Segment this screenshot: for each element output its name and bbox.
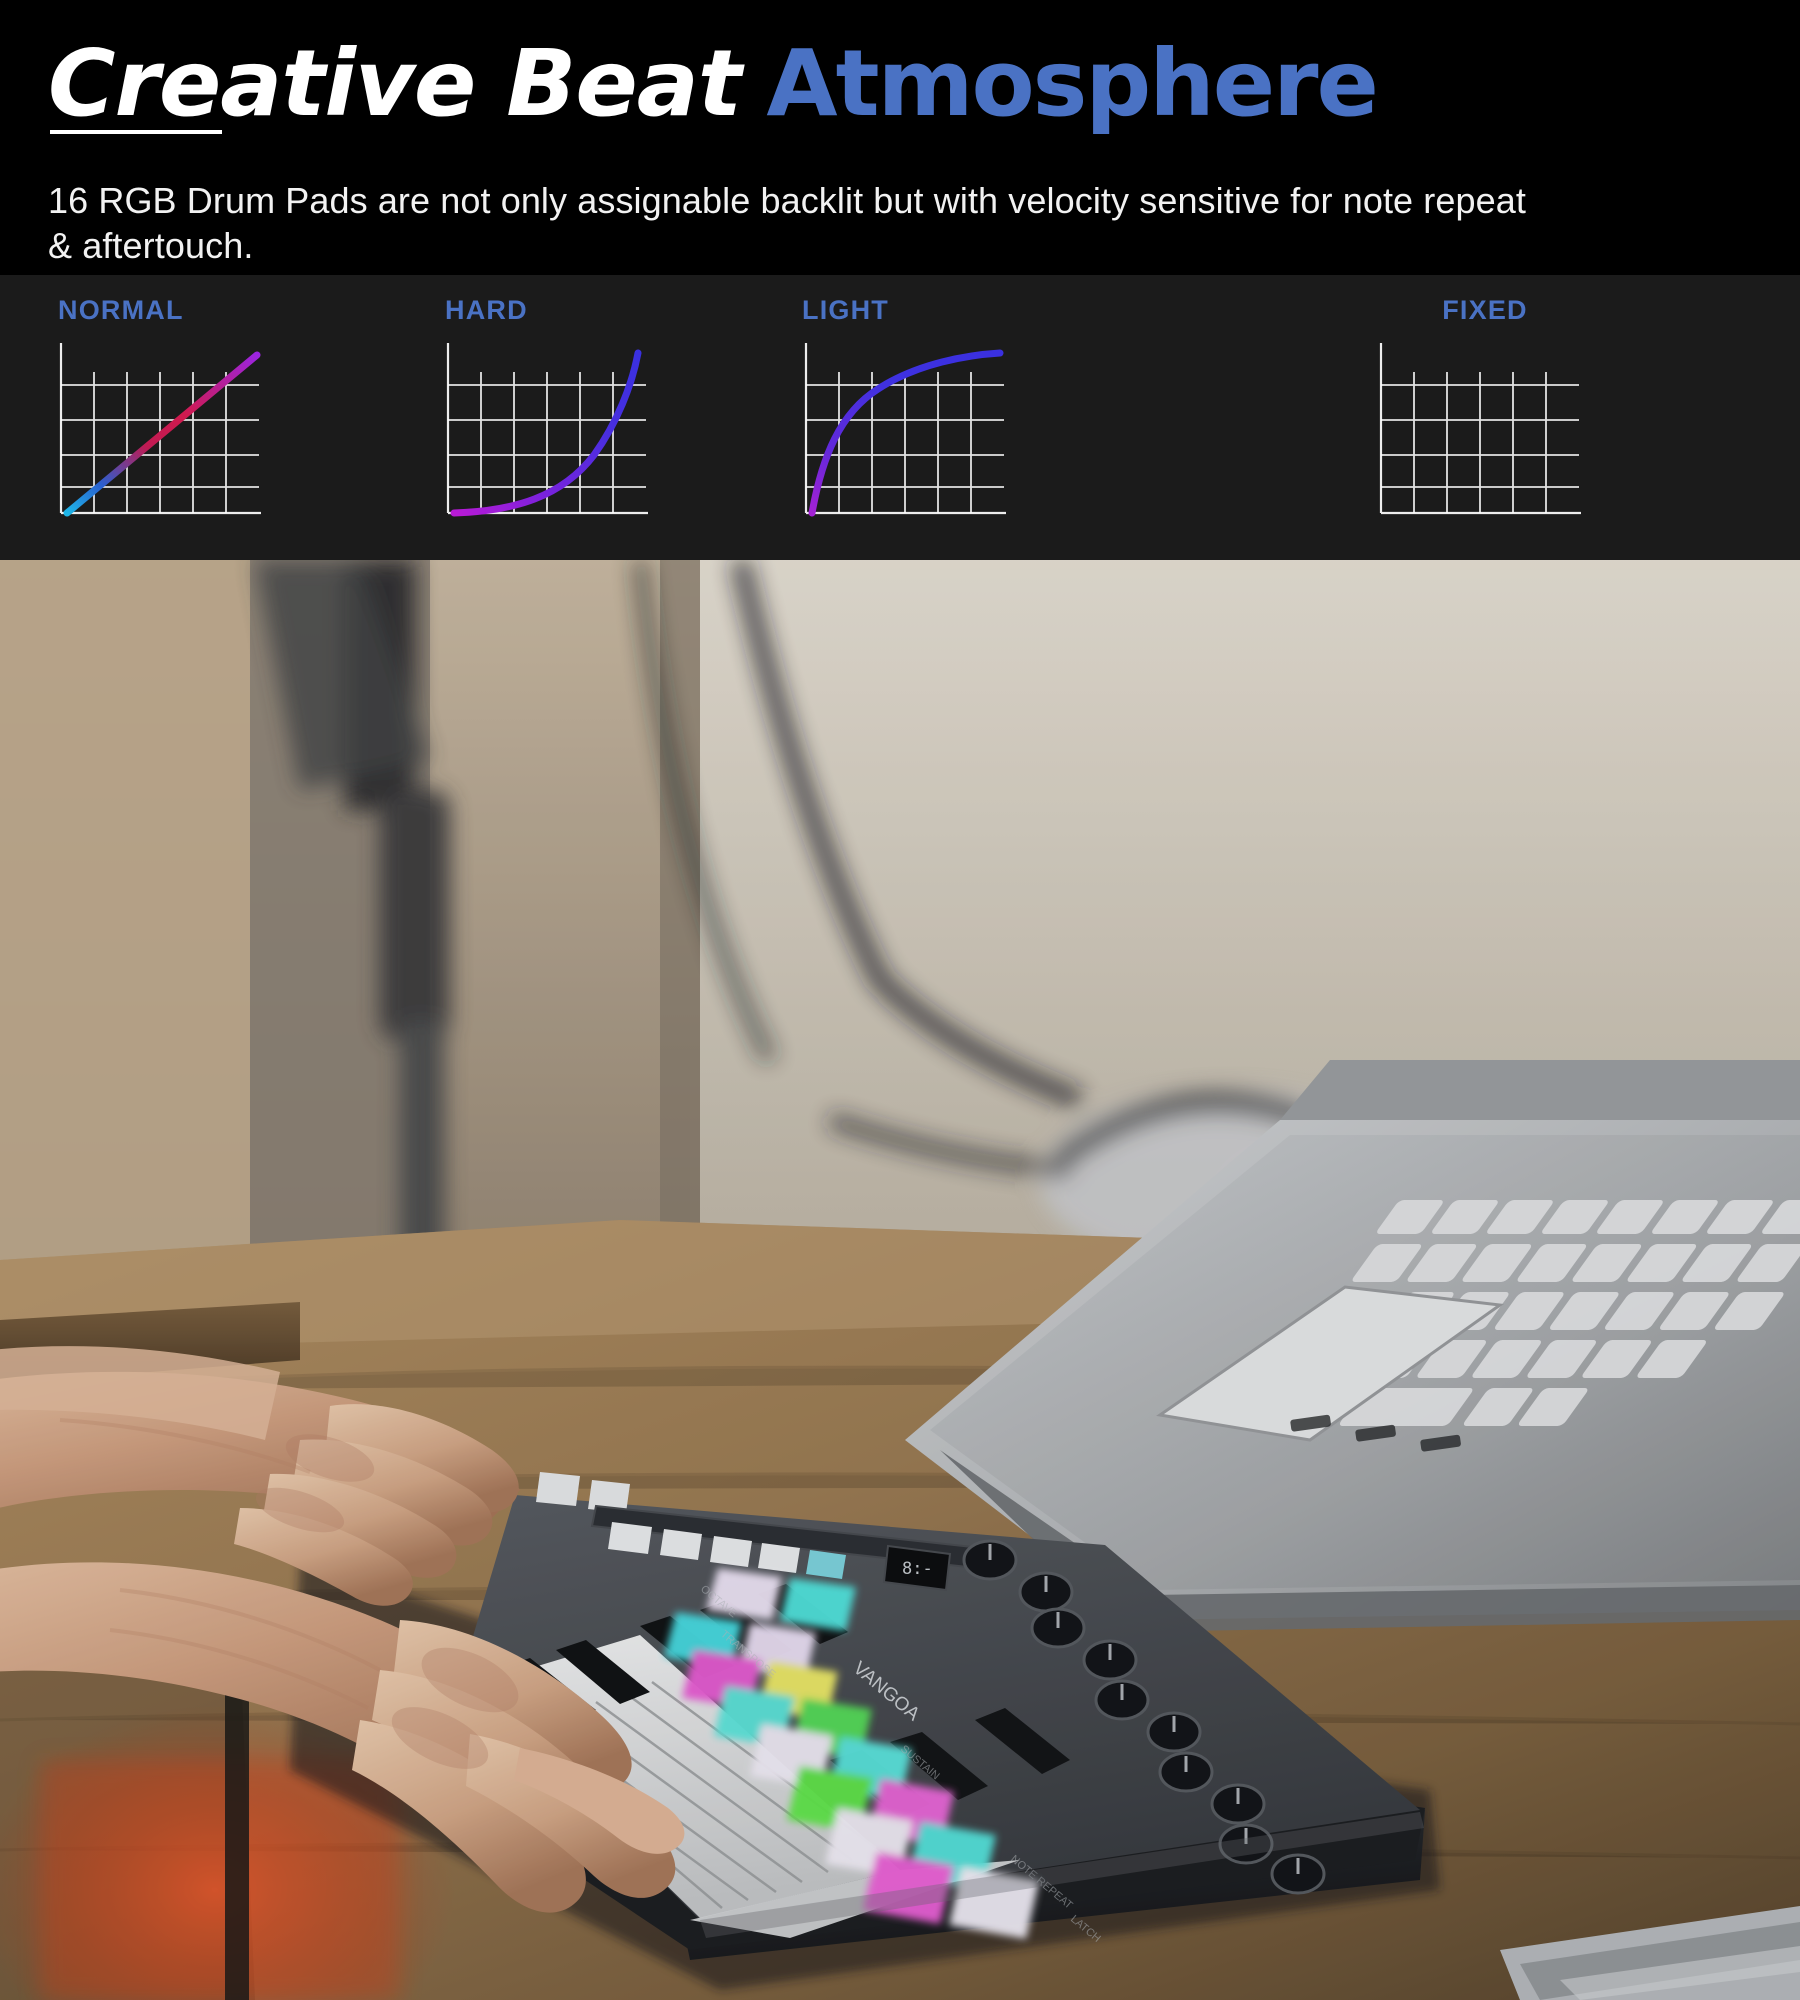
velocity-curve-strip: NORMAL: [0, 275, 1800, 560]
subtitle-text: 16 RGB Drum Pads are not only assignable…: [48, 178, 1548, 269]
velocity-curve-card-fixed: FIXED: [1170, 275, 1800, 560]
curve-plot-hard: [442, 337, 657, 527]
curve-line-normal: [67, 355, 257, 513]
curve-label-hard: HARD: [445, 295, 528, 326]
curve-plot-fixed: [1375, 337, 1590, 527]
velocity-curve-card-hard: HARD: [390, 275, 780, 560]
curve-plot-light: [800, 337, 1015, 527]
curve-label-fixed: FIXED: [1170, 295, 1800, 326]
product-photo: 8:-: [0, 560, 1800, 2000]
curve-plot-normal: [55, 337, 270, 527]
curve-label-normal: NORMAL: [58, 295, 184, 326]
header-banner: Creative Beat Atmosphere 16 RGB Drum Pad…: [0, 0, 1800, 275]
title-white-part: Creative Beat: [48, 30, 741, 137]
title-blue-part: Atmosphere: [766, 30, 1377, 137]
velocity-curve-card-normal: NORMAL: [0, 275, 390, 560]
curve-label-light: LIGHT: [802, 295, 889, 326]
page-title: Creative Beat Atmosphere: [48, 38, 1377, 130]
title-underline-accent: [50, 130, 222, 134]
velocity-curve-card-light: LIGHT: [780, 275, 1170, 560]
